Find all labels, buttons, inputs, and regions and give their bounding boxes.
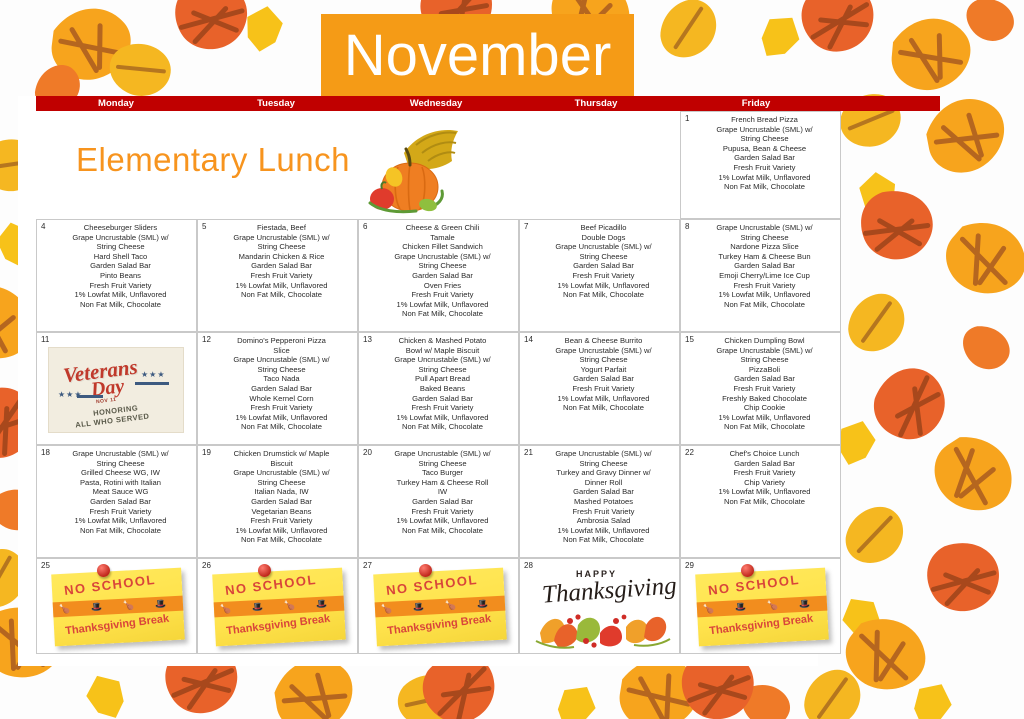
day-number: 7 (524, 222, 528, 231)
day-cell-14[interactable]: 14 Bean & Cheese Burrito Grape Uncrustab… (519, 332, 680, 445)
calendar-week-row: 4 Cheeseburger Sliders Grape Uncrustable… (36, 219, 841, 332)
no-school-label: NO SCHOOL (385, 572, 478, 598)
day-menu: Cheeseburger Sliders Grape Uncrustable (… (37, 220, 196, 311)
turkey-icon: 🍗 (381, 605, 393, 615)
day-number: 29 (685, 561, 694, 570)
day-menu: Bean & Cheese Burrito Grape Uncrustable … (520, 333, 679, 415)
day-cell-26[interactable]: 26 NO SCHOOL 🍗 🎩 🍗 🎩 Thanksgiving Break (197, 558, 358, 654)
day-cell-8[interactable]: 8 Grape Uncrustable (SML) w/ String Chee… (680, 219, 841, 332)
calendar-week-row: 11 Veterans Day ★★★ ★★★ NOV 11 HONORING … (36, 332, 841, 445)
day-menu: Domino's Pepperoni Pizza Slice Grape Unc… (198, 333, 357, 434)
day-number: 1 (685, 114, 689, 123)
day-number: 18 (41, 448, 50, 457)
day-number: 4 (41, 222, 45, 231)
pilgrim-hat-icon: 🎩 (413, 603, 425, 613)
weekday-tuesday: Tuesday (196, 96, 356, 111)
day-number: 21 (524, 448, 533, 457)
no-school-label: NO SCHOOL (224, 572, 317, 598)
day-cell-7[interactable]: 7 Beef Picadillo Double Dogs Grape Uncru… (519, 219, 680, 332)
day-cell-13[interactable]: 13 Chicken & Mashed Potato Bowl w/ Maple… (358, 332, 519, 445)
thanksgiving-foliage-icon (534, 607, 674, 649)
day-cell-27[interactable]: 27 NO SCHOOL 🍗 🎩 🍗 🎩 Thanksgiving Break (358, 558, 519, 654)
pilgrim-hat-icon: 🎩 (799, 599, 811, 609)
day-cell-18[interactable]: 18 Grape Uncrustable (SML) w/ String Che… (36, 445, 197, 558)
turkey-icon: 🍗 (284, 601, 296, 611)
weekday-wednesday: Wednesday (356, 96, 516, 111)
day-number: 26 (202, 561, 211, 570)
veterans-day-date: NOV 11 (96, 397, 117, 405)
day-menu: Grape Uncrustable (SML) w/ String Cheese… (359, 446, 518, 537)
day-cell-4[interactable]: 4 Cheeseburger Sliders Grape Uncrustable… (36, 219, 197, 332)
no-school-note: NO SCHOOL 🍗 🎩 🍗 🎩 Thanksgiving Break (373, 568, 507, 647)
pilgrim-hat-icon: 🎩 (735, 603, 747, 613)
calendar-week-row: 18 Grape Uncrustable (SML) w/ String Che… (36, 445, 841, 558)
day-menu: Chicken Drumstick w/ Maple Biscuit Grape… (198, 446, 357, 547)
push-pin-icon (258, 564, 271, 577)
no-school-label: NO SCHOOL (63, 572, 156, 598)
weekday-monday: Monday (36, 96, 196, 111)
day-menu: Fiestada, Beef Grape Uncrustable (SML) w… (198, 220, 357, 302)
turkey-icon: 🍗 (767, 601, 779, 611)
day-cell-5[interactable]: 5 Fiestada, Beef Grape Uncrustable (SML)… (197, 219, 358, 332)
day-number: 15 (685, 335, 694, 344)
pilgrim-hat-icon: 🎩 (316, 599, 328, 609)
day-menu: Grape Uncrustable (SML) w/ String Cheese… (37, 446, 196, 537)
calendar-grid: Elementary Lunch (36, 111, 841, 654)
no-school-note: NO SCHOOL 🍗 🎩 🍗 🎩 Thanksgiving Break (51, 568, 185, 647)
push-pin-icon (97, 564, 110, 577)
day-menu: Chef's Choice Lunch Garden Salad Bar Fre… (681, 446, 840, 509)
day-number: 8 (685, 222, 689, 231)
day-cell-29[interactable]: 29 NO SCHOOL 🍗 🎩 🍗 🎩 Thanksgiving Break (680, 558, 841, 654)
thanksgiving-label: Thanksgiving (541, 572, 677, 609)
day-cell-12[interactable]: 12 Domino's Pepperoni Pizza Slice Grape … (197, 332, 358, 445)
weekday-friday: Friday (676, 96, 836, 111)
weekday-thursday: Thursday (516, 96, 676, 111)
day-cell-1[interactable]: 1 French Bread Pizza Grape Uncrustable (… (680, 111, 841, 219)
calendar-page: November Monday Tuesday Wednesday Thursd… (0, 0, 1024, 719)
turkey-icon: 🍗 (123, 601, 135, 611)
no-school-label: NO SCHOOL (707, 572, 800, 598)
month-banner: November (321, 14, 634, 98)
day-number: 27 (363, 561, 372, 570)
day-number: 25 (41, 561, 50, 570)
day-cell-21[interactable]: 21 Grape Uncrustable (SML) w/ String Che… (519, 445, 680, 558)
pilgrim-hat-icon: 🎩 (91, 603, 103, 613)
day-menu: Beef Picadillo Double Dogs Grape Uncrust… (520, 220, 679, 302)
turkey-icon: 🍗 (445, 601, 457, 611)
no-school-note: NO SCHOOL 🍗 🎩 🍗 🎩 Thanksgiving Break (212, 568, 346, 647)
day-cell-25[interactable]: 25 NO SCHOOL 🍗 🎩 🍗 🎩 Thanksgiving Break (36, 558, 197, 654)
day-number: 20 (363, 448, 372, 457)
month-title: November (344, 27, 612, 85)
veterans-day-graphic: Veterans Day ★★★ ★★★ NOV 11 HONORING ALL… (48, 347, 184, 433)
day-number: 5 (202, 222, 206, 231)
push-pin-icon (741, 564, 754, 577)
day-menu: French Bread Pizza Grape Uncrustable (SM… (681, 112, 840, 194)
cornucopia-icon (358, 119, 468, 215)
turkey-icon: 🍗 (703, 605, 715, 615)
day-cell-6[interactable]: 6 Cheese & Green Chili Tamale Chicken Fi… (358, 219, 519, 332)
elementary-lunch-banner: Elementary Lunch (36, 111, 680, 219)
veterans-day-bar-left (77, 395, 103, 398)
veterans-day-bar-right (135, 382, 169, 385)
day-number: 6 (363, 222, 367, 231)
calendar-week-row: Elementary Lunch (36, 111, 841, 219)
happy-thanksgiving-graphic: HAPPY Thanksgiving (530, 565, 675, 651)
pilgrim-hat-icon: 🎩 (155, 599, 167, 609)
page-title: Elementary Lunch (76, 141, 350, 179)
turkey-icon: 🍗 (220, 605, 232, 615)
day-cell-15[interactable]: 15 Chicken Dumpling Bowl Grape Uncrustab… (680, 332, 841, 445)
day-number: 14 (524, 335, 533, 344)
no-school-note: NO SCHOOL 🍗 🎩 🍗 🎩 Thanksgiving Break (695, 568, 829, 647)
day-menu: Grape Uncrustable (SML) w/ String Cheese… (681, 220, 840, 311)
veterans-day-stars-right: ★★★ (141, 370, 166, 379)
turkey-icon: 🍗 (59, 605, 71, 615)
day-number: 12 (202, 335, 211, 344)
day-menu: Chicken Dumpling Bowl Grape Uncrustable … (681, 333, 840, 434)
day-menu: Grape Uncrustable (SML) w/ String Cheese… (520, 446, 679, 547)
day-cell-20[interactable]: 20 Grape Uncrustable (SML) w/ String Che… (358, 445, 519, 558)
day-cell-11[interactable]: 11 Veterans Day ★★★ ★★★ NOV 11 HONORING … (36, 332, 197, 445)
day-cell-22[interactable]: 22 Chef's Choice Lunch Garden Salad Bar … (680, 445, 841, 558)
thanksgiving-break-label: Thanksgiving Break (709, 613, 814, 638)
thanksgiving-break-label: Thanksgiving Break (226, 613, 331, 638)
day-number: 11 (41, 335, 49, 344)
thanksgiving-break-label: Thanksgiving Break (65, 613, 170, 638)
day-cell-19[interactable]: 19 Chicken Drumstick w/ Maple Biscuit Gr… (197, 445, 358, 558)
day-number: 13 (363, 335, 372, 344)
day-menu: Cheese & Green Chili Tamale Chicken Fill… (359, 220, 518, 321)
calendar-week-row: 25 NO SCHOOL 🍗 🎩 🍗 🎩 Thanksgiving Break … (36, 558, 841, 654)
pilgrim-hat-icon: 🎩 (477, 599, 489, 609)
weekday-header-bar: Monday Tuesday Wednesday Thursday Friday (36, 96, 940, 111)
day-number: 22 (685, 448, 694, 457)
day-menu: Chicken & Mashed Potato Bowl w/ Maple Bi… (359, 333, 518, 434)
thanksgiving-break-label: Thanksgiving Break (387, 613, 492, 638)
pilgrim-hat-icon: 🎩 (252, 603, 264, 613)
day-cell-28[interactable]: 28 HAPPY Thanksgiving (519, 558, 680, 654)
day-number: 19 (202, 448, 211, 457)
push-pin-icon (419, 564, 432, 577)
